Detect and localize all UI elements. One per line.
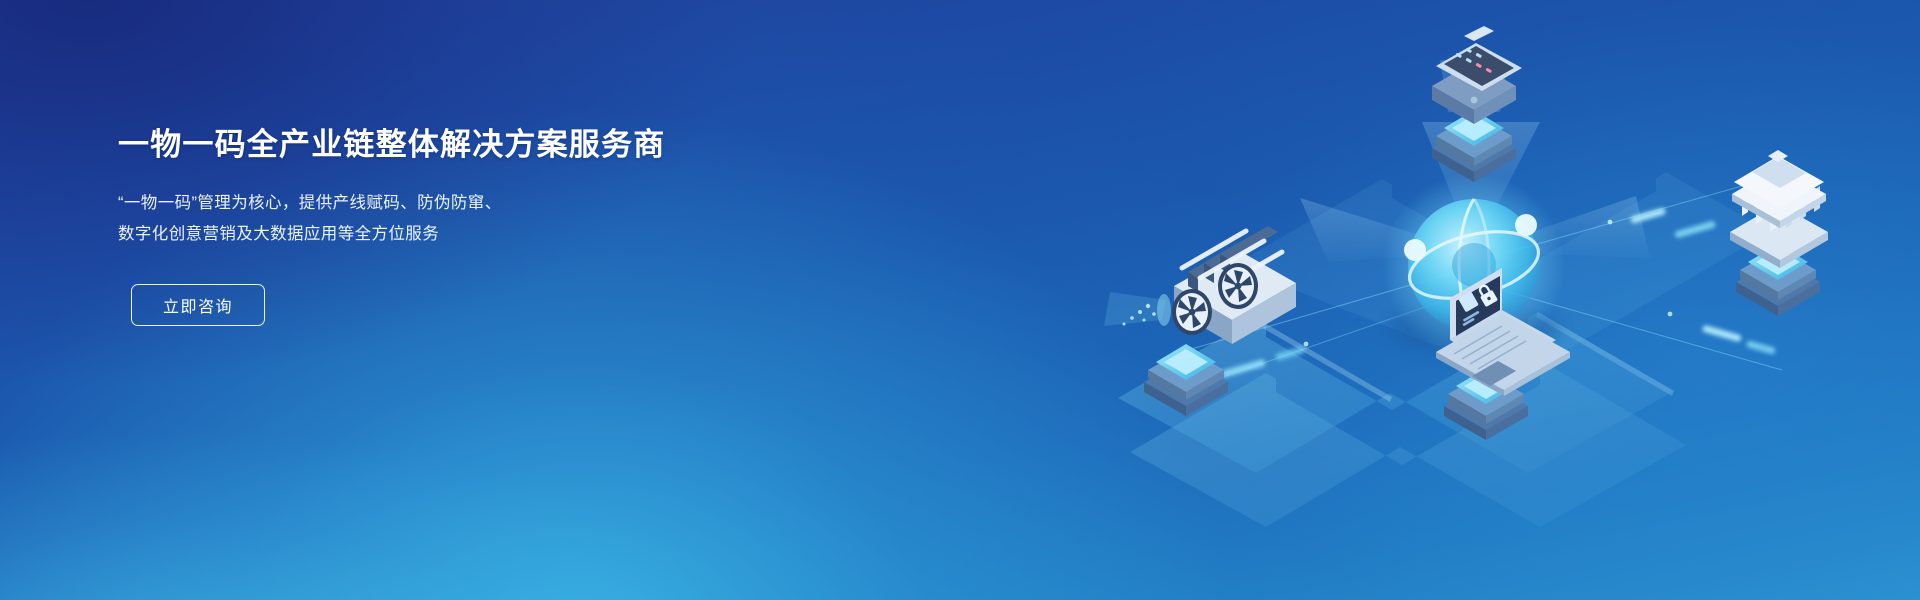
subtitle-line-1: “一物一码”管理为核心，提供产线赋码、防伪防窜、 [118,188,818,219]
data-emission-cone [1104,292,1171,326]
hero-banner: 一物一码全产业链整体解决方案服务商 “一物一码”管理为核心，提供产线赋码、防伪防… [0,0,1920,600]
subtitle-line-2: 数字化创意营销及大数据应用等全方位服务 [118,219,818,250]
page-title: 一物一码全产业链整体解决方案服务商 [118,128,818,162]
isometric-network-illustration [1070,0,1920,600]
consult-now-button[interactable]: 立即咨询 [131,284,265,326]
banner-subtitle: “一物一码”管理为核心，提供产线赋码、防伪防窜、 数字化创意营销及大数据应用等全… [118,188,818,250]
bank-building-icon [1730,150,1828,268]
banner-content: 一物一码全产业链整体解决方案服务商 “一物一码”管理为核心，提供产线赋码、防伪防… [118,128,818,326]
